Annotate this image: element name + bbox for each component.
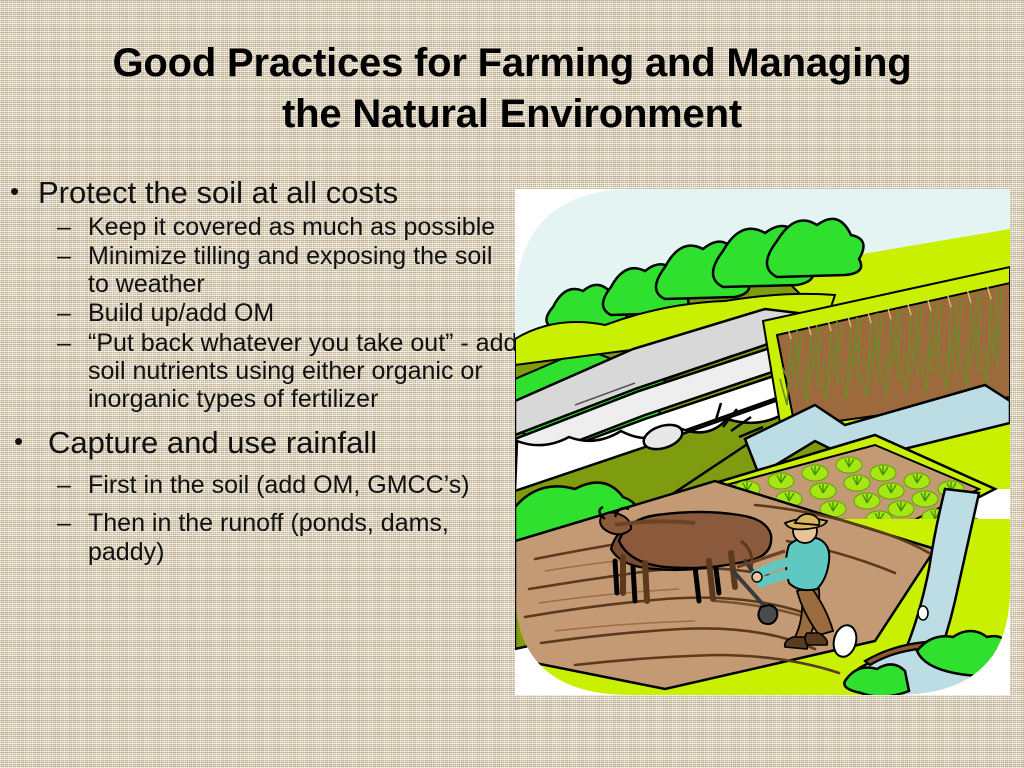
bullet-text: Capture and use rainfall: [38, 426, 530, 461]
bullet-text: Protect the soil at all costs: [38, 176, 530, 211]
subbullet-item-then-in-runoff: – Then in the runoff (ponds, dams, paddy…: [0, 509, 530, 566]
subbullet-text: “Put back whatever you take out” - add s…: [88, 329, 518, 414]
subbullet-text: Keep it covered as much as possible: [88, 213, 518, 241]
bullet-marker: •: [0, 426, 38, 458]
farm-landscape-illustration: [515, 189, 1010, 695]
subbullet-text: Minimize tilling and exposing the soil t…: [88, 242, 518, 299]
bullet-item-capture-rainfall: • Capture and use rainfall: [0, 426, 530, 461]
bullet-marker: •: [0, 176, 38, 208]
subbullet-marker: –: [0, 471, 88, 499]
subbullet-item-build-up-om: – Build up/add OM: [0, 299, 530, 327]
farmer-boot-back: [785, 637, 808, 649]
slide-body-content: • Protect the soil at all costs – Keep i…: [0, 176, 530, 567]
farmer-hand: [752, 572, 762, 582]
slide-title: Good Practices for Farming and Managing …: [40, 38, 984, 140]
subbullet-marker: –: [0, 213, 88, 241]
bullet-item-protect-soil: • Protect the soil at all costs: [0, 176, 530, 211]
subbullet-marker: –: [0, 299, 88, 327]
slide-title-line-2: the Natural Environment: [40, 89, 984, 140]
stream-marker: [918, 606, 928, 620]
farm-landscape-svg: [515, 189, 1010, 695]
subbullet-item-put-back: – “Put back whatever you take out” - add…: [0, 329, 530, 414]
slide-title-line-1: Good Practices for Farming and Managing: [40, 38, 984, 89]
subbullet-text: Then in the runoff (ponds, dams, paddy): [88, 509, 518, 566]
subbullet-marker: –: [0, 242, 88, 270]
presentation-slide: Good Practices for Farming and Managing …: [0, 0, 1024, 768]
subbullet-marker: –: [0, 329, 88, 357]
plow-share: [758, 605, 777, 624]
subbullet-item-first-in-soil: – First in the soil (add OM, GMCC’s): [0, 471, 530, 499]
subbullet-text: First in the soil (add OM, GMCC’s): [88, 471, 518, 499]
subbullet-text: Build up/add OM: [88, 299, 518, 327]
subbullet-marker: –: [0, 509, 88, 537]
subbullet-item-keep-covered: – Keep it covered as much as possible: [0, 213, 530, 241]
subbullet-item-minimize-tilling: – Minimize tilling and exposing the soil…: [0, 242, 530, 299]
